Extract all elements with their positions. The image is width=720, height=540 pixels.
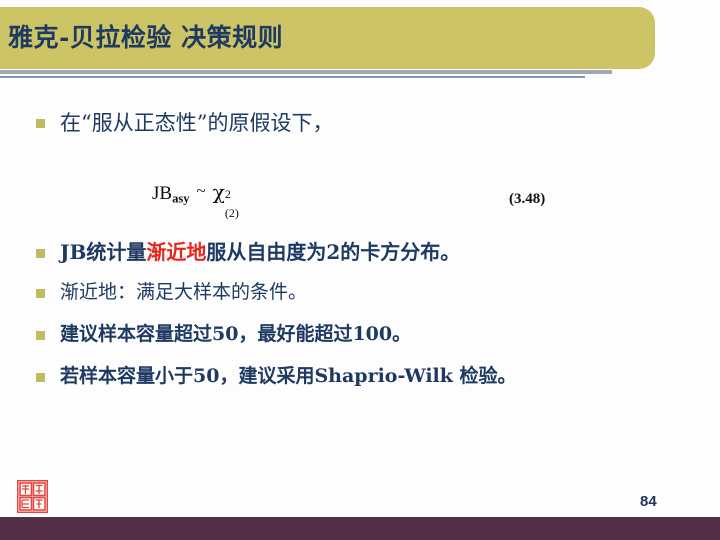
bullet-text-asymptotic-definition: 渐近地：满足大样本的条件。 bbox=[60, 278, 720, 306]
list-item: 在“服从正态性”的原假设下， bbox=[0, 108, 720, 138]
formula-rhs-base: χ bbox=[213, 180, 225, 204]
jb-statistic-prefix: JB统计量 bbox=[60, 240, 146, 264]
divider-rule-thin bbox=[0, 76, 585, 78]
slide-body: 在“服从正态性”的原假设下， JB统计量渐近地服从自由度为2的卡方分布。 渐近地… bbox=[0, 108, 720, 390]
list-item: JB统计量渐近地服从自由度为2的卡方分布。 bbox=[0, 238, 720, 266]
bullet-text-jb-distribution: JB统计量渐近地服从自由度为2的卡方分布。 bbox=[60, 238, 720, 266]
equation-number: (3.48) bbox=[509, 191, 545, 208]
formula-lhs-base: JB bbox=[152, 183, 172, 204]
asymptotic-emphasis: 渐近地 bbox=[146, 240, 206, 264]
bullet-text-sample-size-recommendation: 建议样本容量超过50，最好能超过100。 bbox=[60, 320, 720, 348]
bullet-text-hypothesis: 在“服从正态性”的原假设下， bbox=[60, 108, 720, 138]
bullet-square-icon bbox=[36, 331, 45, 340]
list-item: 若样本容量小于50，建议采用Shaprio-Wilk 检验。 bbox=[0, 362, 720, 390]
bullet-square-icon bbox=[36, 249, 45, 258]
bullet-square-icon bbox=[36, 373, 45, 382]
list-item: 建议样本容量超过50，最好能超过100。 bbox=[0, 320, 720, 348]
divider-rule-thick bbox=[0, 70, 612, 74]
formula-relation-symbol: ~ bbox=[197, 181, 206, 200]
bullet-square-icon bbox=[36, 289, 45, 298]
footer-bar bbox=[0, 517, 720, 540]
page-title: 雅克-贝拉检验 决策规则 bbox=[8, 7, 283, 69]
formula-block: JBasy~χ2(2) (3.48) bbox=[0, 180, 720, 220]
formula-lhs-subscript: asy bbox=[172, 192, 189, 206]
red-seal-stamp-icon bbox=[17, 480, 48, 513]
formula-rhs-subscript: (2) bbox=[225, 206, 239, 221]
bullet-square-icon bbox=[36, 119, 45, 128]
bullet-text-small-sample-alternative: 若样本容量小于50，建议采用Shaprio-Wilk 检验。 bbox=[60, 362, 720, 390]
page-number: 84 bbox=[640, 493, 657, 510]
list-item: 渐近地：满足大样本的条件。 bbox=[0, 278, 720, 306]
slide-canvas: 雅克-贝拉检验 决策规则 在“服从正态性”的原假设下， JB统计量渐近地服从自由… bbox=[0, 0, 720, 540]
jb-statistic-suffix: 服从自由度为2的卡方分布。 bbox=[206, 240, 460, 264]
formula-expression: JBasy~χ2(2) bbox=[152, 180, 225, 207]
slide-title-bar: 雅克-贝拉检验 决策规则 bbox=[0, 7, 655, 69]
formula-rhs-superscript: 2 bbox=[225, 187, 231, 202]
